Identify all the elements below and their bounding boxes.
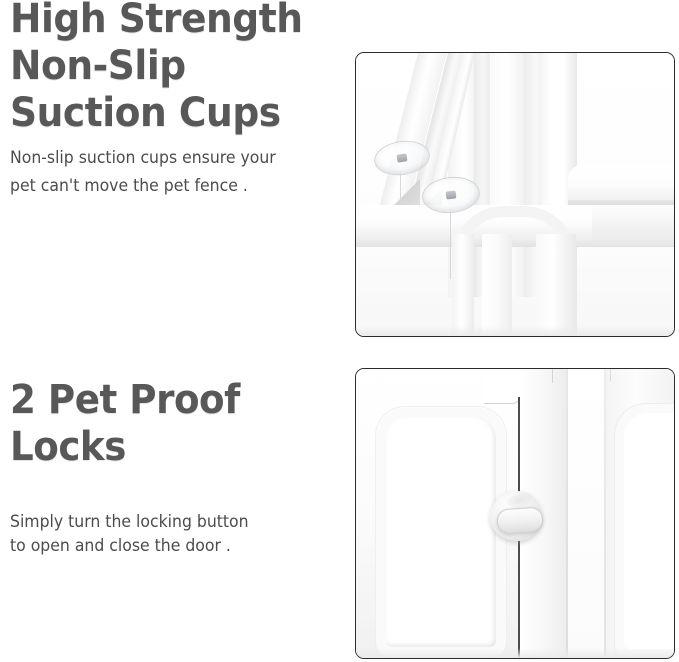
fence-top-seam xyxy=(552,369,553,383)
product-photo-suction-cups xyxy=(355,52,675,337)
feature-body-pet-proof-locks: Simply turn the locking button to open a… xyxy=(10,510,343,558)
suction-cup-nub xyxy=(446,190,457,199)
fence-door-left-window xyxy=(386,417,496,647)
photo-bottom-shading xyxy=(356,648,674,658)
fence-panel-divider xyxy=(566,369,568,658)
suction-cup-stem xyxy=(450,209,451,279)
feature-heading-suction-cups: High Strength Non-Slip Suction Cups xyxy=(10,0,358,138)
product-photo-pet-proof-locks xyxy=(355,368,675,659)
fence-leg xyxy=(536,234,576,336)
feature-body-suction-cups: Non-slip suction cups ensure your pet ca… xyxy=(10,144,343,199)
locking-button xyxy=(496,506,544,534)
fence-bottom-rail-right xyxy=(592,205,674,245)
fence-upper-rail xyxy=(568,165,674,209)
fence-door-right-window xyxy=(624,413,674,649)
fence-top-seam xyxy=(610,369,611,381)
photo-bottom-shading xyxy=(356,326,674,336)
suction-cup-stem xyxy=(400,171,401,205)
photo-inner-2 xyxy=(356,369,674,658)
feature-section-suction-cups: High Strength Non-Slip Suction Cups Non-… xyxy=(0,0,679,355)
fence-leg xyxy=(452,234,474,336)
suction-cup-nub xyxy=(396,153,407,162)
feature-section-pet-proof-locks: 2 Pet Proof Locks Simply turn the lockin… xyxy=(0,355,679,662)
fence-door-notch xyxy=(484,369,521,404)
fence-leg xyxy=(482,234,512,336)
feature-heading-pet-proof-locks: 2 Pet Proof Locks xyxy=(10,377,363,471)
photo-inner-1 xyxy=(356,53,674,336)
